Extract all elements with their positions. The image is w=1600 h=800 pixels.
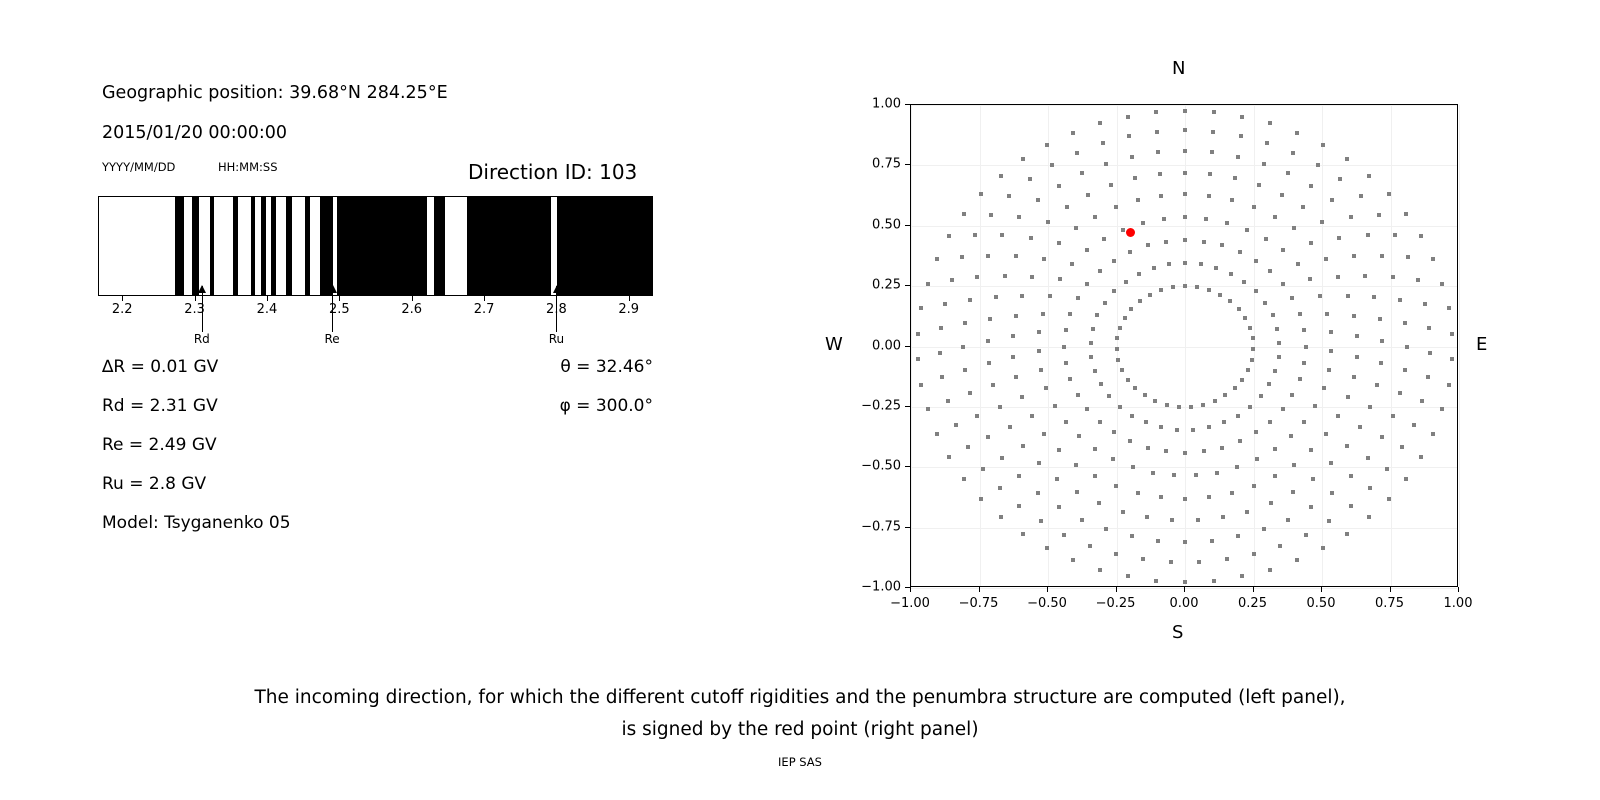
direction-point: [1141, 221, 1145, 225]
penumbra-forbidden-band: [175, 197, 184, 295]
direction-point: [1290, 296, 1294, 300]
direction-point: [1233, 386, 1237, 390]
direction-point: [1431, 257, 1435, 261]
direction-point: [1159, 288, 1163, 292]
direction-point: [1426, 375, 1430, 379]
direction-point: [1400, 445, 1404, 449]
sky-map-plot: [910, 104, 1458, 587]
x-axis-tick-label: 1.00: [1444, 596, 1473, 611]
direction-point: [1021, 157, 1025, 161]
direction-point: [1210, 539, 1214, 543]
x-axis-tick-label: −0.75: [959, 596, 999, 611]
direction-point: [1127, 134, 1131, 138]
direction-point: [1273, 369, 1277, 373]
direction-point: [1011, 334, 1015, 338]
direction-point: [986, 254, 990, 258]
direction-point: [998, 486, 1002, 490]
direction-point: [1183, 215, 1187, 219]
direction-point: [988, 317, 992, 321]
direction-point: [1223, 393, 1227, 397]
direction-point: [1028, 177, 1032, 181]
direction-point: [1089, 341, 1093, 345]
direction-point: [1286, 518, 1290, 522]
arrow-up-icon: [198, 285, 206, 293]
direction-point: [975, 414, 979, 418]
direction-point: [935, 257, 939, 261]
penumbra-forbidden-band: [320, 197, 332, 295]
direction-point: [1114, 205, 1118, 209]
direction-point: [1281, 407, 1285, 411]
direction-point: [1346, 395, 1350, 399]
direction-point: [1322, 386, 1326, 390]
direction-point: [1183, 284, 1187, 288]
direction-point: [946, 399, 950, 403]
direction-point: [1159, 194, 1163, 198]
penumbra-tick-label: 2.9: [618, 302, 639, 317]
gridline-horizontal: [911, 347, 1457, 348]
direction-point: [1419, 455, 1423, 459]
direction-point: [1101, 141, 1105, 145]
direction-point: [1164, 240, 1168, 244]
direction-point: [1183, 238, 1187, 242]
direction-point: [968, 391, 972, 395]
direction-point: [966, 445, 970, 449]
direction-point: [961, 345, 965, 349]
direction-point: [1099, 382, 1103, 386]
direction-point: [947, 234, 951, 238]
direction-point: [1349, 474, 1353, 478]
geographic-position-label: Geographic position: 39.68°N 284.25°E: [102, 83, 448, 103]
penumbra-tick-mark: [122, 296, 123, 301]
x-axis-tick-mark: [910, 587, 911, 592]
direction-point: [1172, 473, 1176, 477]
direction-point: [1420, 399, 1424, 403]
direction-point: [1064, 328, 1068, 332]
direction-point: [1199, 262, 1203, 266]
direction-point: [1088, 544, 1092, 548]
direction-point: [1235, 465, 1239, 469]
direction-point: [1237, 307, 1241, 311]
compass-north-label: N: [1172, 58, 1185, 79]
direction-point: [1349, 215, 1353, 219]
x-axis-tick-mark: [1390, 587, 1391, 592]
direction-point: [919, 306, 923, 310]
direction-point: [1156, 539, 1160, 543]
direction-point: [1264, 237, 1268, 241]
direction-point: [1077, 434, 1081, 438]
penumbra-forbidden-band: [261, 197, 266, 295]
x-axis-tick-label: 0.25: [1238, 596, 1267, 611]
direction-point: [1017, 474, 1021, 478]
direction-point: [1375, 383, 1379, 387]
direction-point: [1213, 399, 1217, 403]
date-format-hint: YYYY/MM/DD: [102, 160, 175, 174]
direction-point: [1008, 425, 1012, 429]
direction-point: [1112, 430, 1116, 434]
gridline-horizontal: [911, 165, 1457, 166]
direction-point: [1207, 288, 1211, 292]
direction-point: [1250, 358, 1254, 362]
direction-point: [1183, 261, 1187, 265]
gridline-horizontal: [911, 105, 1457, 106]
direction-point: [1262, 527, 1266, 531]
param-ru: Ru = 2.8 GV: [102, 474, 206, 494]
direction-point: [1131, 465, 1135, 469]
direction-point: [1387, 192, 1391, 196]
direction-point: [1021, 444, 1025, 448]
direction-point: [1210, 150, 1214, 154]
direction-point: [938, 351, 942, 355]
direction-point: [1273, 447, 1277, 451]
direction-point: [1104, 527, 1108, 531]
direction-point: [1387, 497, 1391, 501]
direction-point: [1170, 518, 1174, 522]
penumbra-forbidden-band: [337, 197, 427, 295]
direction-point: [1309, 505, 1313, 509]
direction-point: [1085, 407, 1089, 411]
direction-point: [1372, 295, 1376, 299]
direction-point: [1230, 491, 1234, 495]
penumbra-marker-label: Rd: [194, 332, 210, 346]
direction-point: [1245, 228, 1249, 232]
direction-point: [1329, 330, 1333, 334]
direction-point: [1126, 115, 1130, 119]
direction-point: [1218, 293, 1222, 297]
direction-point: [1154, 579, 1158, 583]
direction-point: [1116, 358, 1120, 362]
direction-point: [1215, 471, 1219, 475]
penumbra-tick-label: 2.2: [112, 302, 133, 317]
y-axis-tick-mark: [905, 346, 910, 347]
direction-point: [1089, 355, 1093, 359]
direction-point: [1379, 361, 1383, 365]
direction-point: [1098, 420, 1102, 424]
direction-point: [1309, 184, 1313, 188]
datetime-label: 2015/01/20 00:00:00: [102, 123, 287, 143]
direction-point: [1325, 312, 1329, 316]
direction-point: [1133, 386, 1137, 390]
direction-point: [1403, 368, 1407, 372]
direction-point: [1278, 544, 1282, 548]
direction-point: [1050, 163, 1054, 167]
direction-point: [1045, 546, 1049, 550]
direction-point: [1030, 275, 1034, 279]
y-axis-tick-label: −0.50: [861, 459, 901, 474]
direction-point: [1345, 157, 1349, 161]
direction-point: [1404, 212, 1408, 216]
direction-point: [1146, 243, 1150, 247]
direction-point: [1295, 558, 1299, 562]
direction-point: [1112, 289, 1116, 293]
direction-point: [1126, 574, 1130, 578]
direction-point: [1045, 143, 1049, 147]
direction-point: [1086, 193, 1090, 197]
direction-point: [1405, 345, 1409, 349]
direction-point: [1130, 155, 1134, 159]
direction-point: [986, 435, 990, 439]
penumbra-tick-mark: [267, 296, 268, 301]
direction-point: [1263, 301, 1267, 305]
selected-direction-point: [1126, 228, 1135, 237]
direction-point: [1121, 228, 1125, 232]
y-axis-tick-mark: [905, 285, 910, 286]
direction-point: [1145, 515, 1149, 519]
direction-point: [1017, 215, 1021, 219]
direction-point: [1289, 434, 1293, 438]
direction-point: [968, 298, 972, 302]
direction-point: [1366, 233, 1370, 237]
direction-point: [1039, 368, 1043, 372]
direction-point: [1222, 420, 1226, 424]
direction-point: [1225, 557, 1229, 561]
direction-point: [1152, 266, 1156, 270]
direction-point: [1277, 341, 1281, 345]
direction-point: [1345, 444, 1349, 448]
direction-point: [1304, 533, 1308, 537]
y-axis-tick-mark: [905, 527, 910, 528]
direction-point: [1196, 518, 1200, 522]
direction-point: [1029, 236, 1033, 240]
gridline-vertical: [1117, 105, 1118, 586]
direction-point: [1259, 394, 1263, 398]
direction-point: [1268, 568, 1272, 572]
direction-point: [1151, 471, 1155, 475]
direction-point: [1007, 194, 1011, 198]
gridline-vertical: [1185, 105, 1186, 586]
direction-point: [1220, 446, 1224, 450]
y-axis-tick-label: −0.75: [861, 519, 901, 534]
compass-east-label: E: [1476, 334, 1487, 355]
direction-point: [1148, 293, 1152, 297]
direction-point: [1368, 405, 1372, 409]
direction-point: [1251, 347, 1255, 351]
x-axis-tick-label: 0.75: [1375, 596, 1404, 611]
penumbra-axis: 2.22.32.42.52.62.72.82.9RdReRu: [98, 296, 655, 356]
direction-point: [1062, 345, 1066, 349]
direction-point: [1380, 339, 1384, 343]
direction-point: [1304, 345, 1308, 349]
penumbra-forbidden-band: [557, 197, 653, 295]
direction-point: [1447, 306, 1451, 310]
caption-line-2: is signed by the red point (right panel): [0, 714, 1600, 746]
direction-point: [1427, 326, 1431, 330]
direction-point: [1230, 198, 1234, 202]
direction-point: [1238, 250, 1242, 254]
direction-point: [1085, 248, 1089, 252]
direction-point: [1164, 449, 1168, 453]
direction-point: [1137, 272, 1141, 276]
direction-point: [1320, 220, 1324, 224]
direction-point: [1248, 405, 1252, 409]
penumbra-forbidden-band: [467, 197, 550, 295]
penumbra-forbidden-band: [305, 197, 311, 295]
direction-point: [1313, 404, 1317, 408]
direction-point: [1014, 254, 1018, 258]
direction-point: [1416, 278, 1420, 282]
direction-point: [981, 467, 985, 471]
direction-point: [1062, 533, 1066, 537]
direction-point: [1440, 282, 1444, 286]
direction-point: [1080, 171, 1084, 175]
direction-point: [1271, 313, 1275, 317]
y-axis-tick-mark: [905, 466, 910, 467]
direction-point: [1355, 355, 1359, 359]
direction-point: [1352, 314, 1356, 318]
direction-point: [1093, 215, 1097, 219]
direction-point: [1308, 277, 1312, 281]
direction-point: [1228, 299, 1232, 303]
direction-point: [1280, 193, 1284, 197]
direction-point: [1268, 269, 1272, 273]
direction-point: [1273, 474, 1277, 478]
direction-point: [1412, 423, 1416, 427]
direction-point: [916, 357, 920, 361]
penumbra-forbidden-band: [271, 197, 275, 295]
direction-point: [1118, 326, 1122, 330]
direction-point: [1329, 461, 1333, 465]
direction-point: [1265, 141, 1269, 145]
direction-point: [1302, 328, 1306, 332]
direction-point: [1000, 233, 1004, 237]
y-axis-tick-mark: [905, 406, 910, 407]
direction-point: [1064, 361, 1068, 365]
direction-point: [1440, 407, 1444, 411]
direction-point: [1183, 192, 1187, 196]
direction-point: [1115, 336, 1119, 340]
direction-point: [1141, 557, 1145, 561]
direction-point: [1053, 404, 1057, 408]
direction-point: [1393, 233, 1397, 237]
direction-point: [1183, 109, 1187, 113]
gridline-vertical: [1391, 105, 1392, 586]
direction-point: [1423, 302, 1427, 306]
direction-point: [1071, 131, 1075, 135]
direction-point: [1128, 250, 1132, 254]
direction-point: [1130, 414, 1134, 418]
direction-point: [1064, 420, 1068, 424]
direction-point: [1146, 446, 1150, 450]
direction-point: [1363, 274, 1367, 278]
direction-point: [1255, 457, 1259, 461]
x-axis-tick-label: −0.50: [1027, 596, 1067, 611]
direction-point: [1017, 504, 1021, 508]
direction-point: [1406, 255, 1410, 259]
direction-point: [1075, 490, 1079, 494]
direction-point: [1118, 405, 1122, 409]
penumbra-tick-label: 2.4: [257, 302, 278, 317]
direction-point: [1311, 477, 1315, 481]
x-axis-tick-label: −1.00: [890, 596, 930, 611]
penumbra-tick-mark: [339, 296, 340, 301]
penumbra-forbidden-band: [192, 197, 199, 295]
direction-point: [1212, 110, 1216, 114]
direction-point: [1183, 497, 1187, 501]
direction-point: [926, 282, 930, 286]
penumbra-forbidden-band: [434, 197, 445, 295]
direction-point: [1295, 131, 1299, 135]
direction-point: [1183, 171, 1187, 175]
direction-point: [1128, 439, 1132, 443]
direction-point: [1065, 205, 1069, 209]
direction-point: [1159, 425, 1163, 429]
direction-point: [1268, 420, 1272, 424]
direction-point: [1211, 130, 1215, 134]
direction-point: [1248, 326, 1252, 330]
direction-point: [1403, 321, 1407, 325]
direction-point: [1252, 552, 1256, 556]
arrow-up-icon: [329, 285, 337, 293]
penumbra-marker-label: Re: [324, 332, 339, 346]
direction-point: [1398, 298, 1402, 302]
direction-point: [1130, 534, 1134, 538]
direction-point: [1291, 490, 1295, 494]
direction-point: [1240, 115, 1244, 119]
direction-point: [1175, 428, 1179, 432]
direction-point: [1036, 491, 1040, 495]
direction-point: [1136, 198, 1140, 202]
direction-point: [1273, 215, 1277, 219]
x-axis-tick-mark: [1116, 587, 1117, 592]
direction-point: [1020, 395, 1024, 399]
direction-point: [1352, 254, 1356, 258]
direction-point: [1165, 403, 1169, 407]
direction-point: [1103, 301, 1107, 305]
direction-point: [1290, 393, 1294, 397]
y-axis-tick-label: −1.00: [861, 580, 901, 595]
y-axis-tick-label: 0.50: [872, 217, 901, 232]
gridline-vertical: [911, 105, 912, 586]
direction-point: [998, 405, 1002, 409]
direction-point: [1346, 294, 1350, 298]
direction-point: [1330, 198, 1334, 202]
direction-point: [1431, 432, 1435, 436]
direction-point: [1221, 515, 1225, 519]
direction-point: [1183, 580, 1187, 584]
direction-point: [1275, 327, 1279, 331]
direction-point: [1345, 532, 1349, 536]
direction-point: [940, 375, 944, 379]
direction-point: [1095, 313, 1099, 317]
direction-point: [1298, 312, 1302, 316]
direction-point: [1041, 312, 1045, 316]
direction-point: [1349, 504, 1353, 508]
direction-point: [1242, 280, 1246, 284]
direction-point: [1428, 351, 1432, 355]
x-axis-tick-label: 0.00: [1170, 596, 1199, 611]
direction-point: [1298, 377, 1302, 381]
direction-point: [1080, 518, 1084, 522]
direction-point: [1292, 463, 1296, 467]
direction-point: [1321, 143, 1325, 147]
direction-point: [1214, 266, 1218, 270]
direction-point: [1057, 241, 1061, 245]
gridline-vertical: [1048, 105, 1049, 586]
direction-point: [1153, 399, 1157, 403]
direction-point: [939, 326, 943, 330]
gridline-vertical: [1459, 105, 1460, 586]
direction-point: [1156, 150, 1160, 154]
direction-point: [1189, 405, 1193, 409]
direction-point: [1359, 194, 1363, 198]
direction-point: [1336, 275, 1340, 279]
param-delta-r: ∆R = 0.01 GV: [102, 357, 218, 377]
direction-point: [963, 368, 967, 372]
direction-point: [991, 383, 995, 387]
direction-point: [919, 383, 923, 387]
direction-point: [1254, 289, 1258, 293]
direction-point: [1447, 383, 1451, 387]
direction-point: [1183, 128, 1187, 132]
